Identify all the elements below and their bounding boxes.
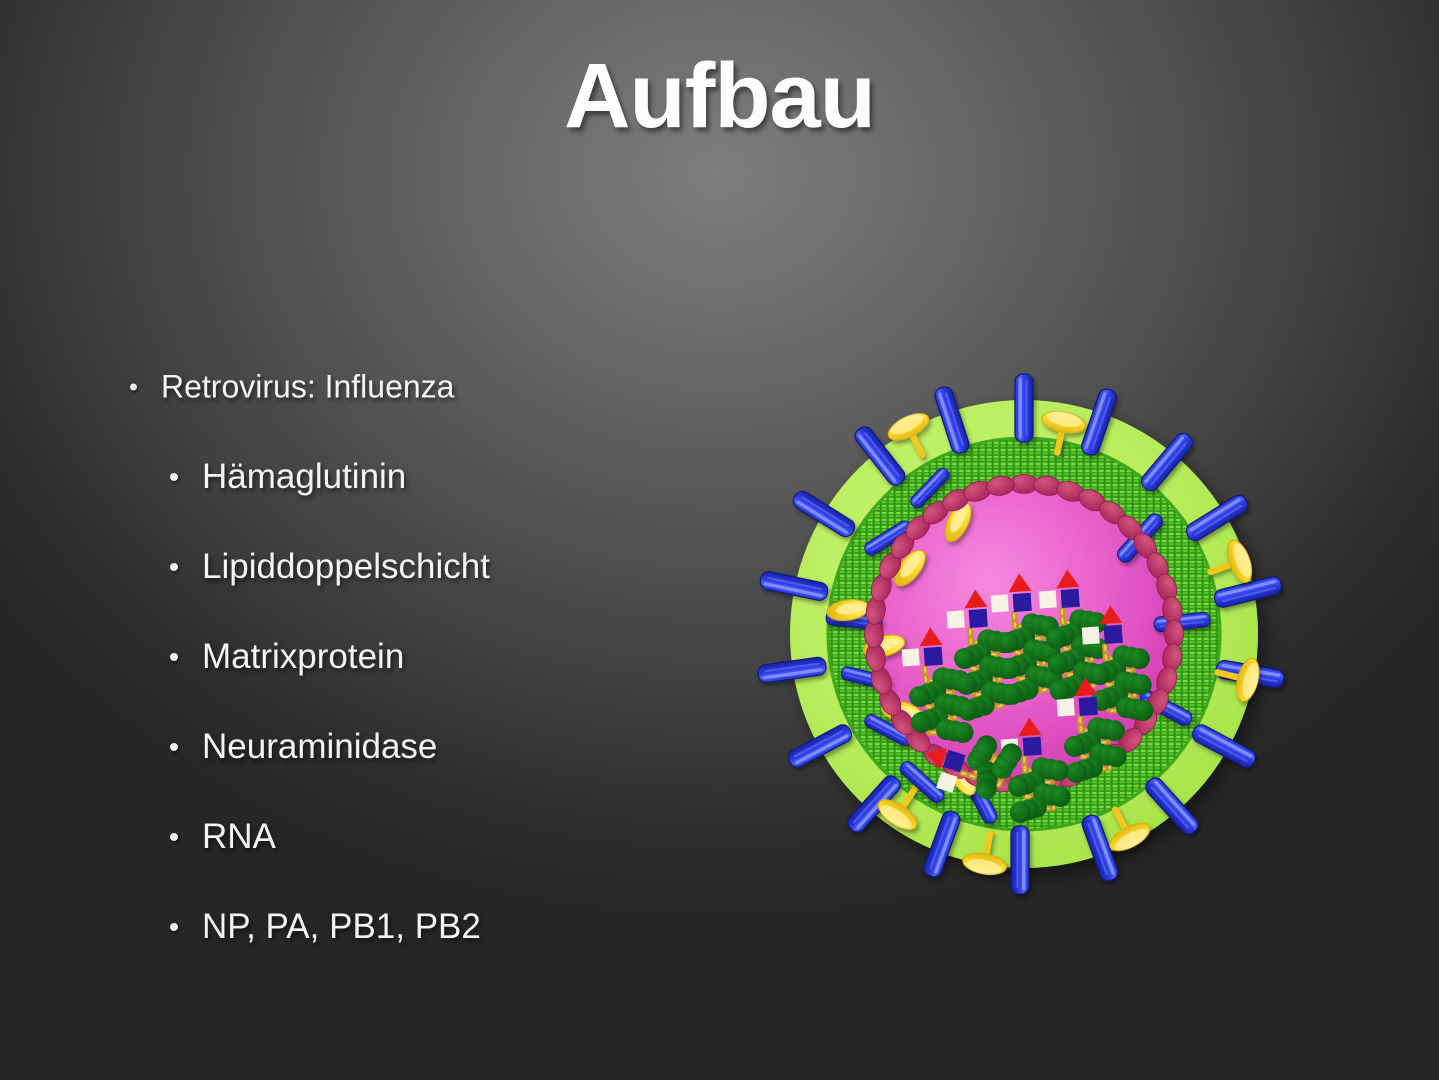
polymerase-pa-marker <box>947 610 965 628</box>
polymerase-pa-marker <box>1082 626 1100 644</box>
polymerase-pb-marker <box>1013 593 1032 612</box>
bullet-label: Retrovirus: Influenza <box>161 369 454 406</box>
bullet-label: NP, PA, PB1, PB2 <box>202 907 481 947</box>
bullet-label: Hämaglutinin <box>202 457 406 497</box>
bullet-dot-icon <box>170 563 178 571</box>
polymerase-pb-marker <box>924 647 943 666</box>
presentation-slide: Aufbau Retrovirus: Influenza Hämaglutini… <box>0 0 1439 1080</box>
bullet-label: Matrixprotein <box>202 637 404 677</box>
bullet-dot-icon <box>170 923 178 931</box>
list-item: Hämaglutinin <box>0 432 640 522</box>
bullet-dot-icon <box>170 833 178 841</box>
bullet-list: Retrovirus: Influenza Hämaglutinin Lipid… <box>0 342 640 972</box>
polymerase-pb-marker <box>1104 625 1123 644</box>
bullet-dot-icon <box>170 653 178 661</box>
list-item: Lipiddoppelschicht <box>0 522 640 612</box>
slide-title: Aufbau <box>0 44 1439 149</box>
bullet-label: RNA <box>202 817 276 857</box>
influenza-virus-diagram <box>762 378 1302 898</box>
bullet-dot-icon <box>130 384 137 391</box>
bullet-label: Lipiddoppelschicht <box>202 547 490 587</box>
list-item: NP, PA, PB1, PB2 <box>0 882 640 972</box>
polymerase-pa-marker <box>991 594 1009 612</box>
polymerase-pa-marker <box>902 648 920 666</box>
bullet-dot-icon <box>170 743 178 751</box>
bullet-label: Neuraminidase <box>202 727 437 767</box>
list-item: Neuraminidase <box>0 702 640 792</box>
polymerase-pa-marker <box>1039 590 1057 608</box>
polymerase-pb-marker <box>969 609 988 628</box>
list-item: Retrovirus: Influenza <box>0 342 640 432</box>
polymerase-pb-marker <box>1023 737 1042 756</box>
polymerase-pa-marker <box>1057 698 1075 716</box>
polymerase-pb-marker <box>1079 697 1098 716</box>
bullet-dot-icon <box>170 473 178 481</box>
polymerase-pb-marker <box>1061 589 1080 608</box>
list-item: Matrixprotein <box>0 612 640 702</box>
list-item: RNA <box>0 792 640 882</box>
